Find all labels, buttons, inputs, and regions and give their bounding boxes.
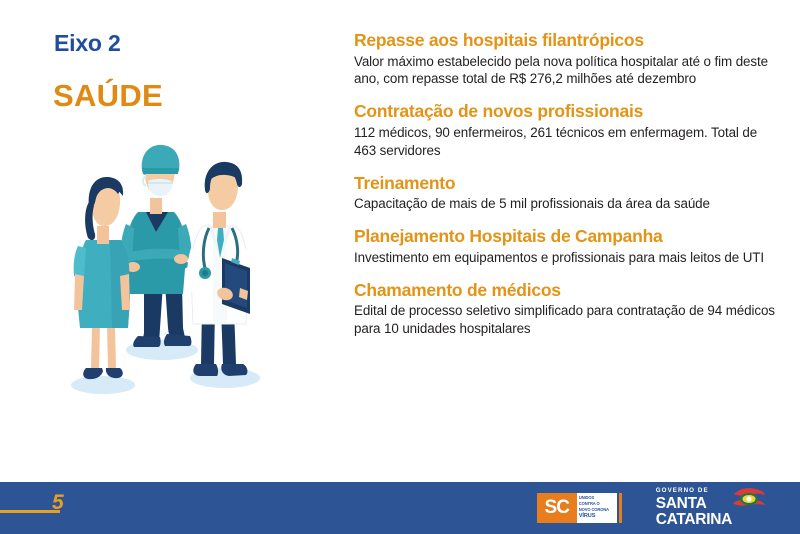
sc-logo-accent-bar xyxy=(619,493,622,523)
government-logo-eyebrow: GOVERNO DE xyxy=(656,488,732,494)
footer-bar: 5 SC UNIDOS CONTRA O NOVO CORONA VÍRUS G… xyxy=(0,482,800,534)
content-block: Repasse aos hospitais filantrópicos Valo… xyxy=(354,30,778,88)
page-number: 5 xyxy=(52,491,64,515)
block-body: 112 médicos, 90 enfermeiros, 261 técnico… xyxy=(354,124,778,160)
eixo-label: Eixo 2 xyxy=(54,30,121,57)
government-logo-line1: SANTA xyxy=(656,496,732,512)
figure-doctor xyxy=(187,162,252,376)
santa-catarina-flag-icon xyxy=(732,486,766,512)
block-heading: Chamamento de médicos xyxy=(354,280,778,301)
block-body: Edital de processo seletivo simplificado… xyxy=(354,302,778,338)
content-block: Treinamento Capacitação de mais de 5 mil… xyxy=(354,173,778,213)
figure-nurse xyxy=(74,177,130,379)
slide-canvas: Eixo 2 SAÚDE xyxy=(0,0,800,534)
block-body: Capacitação de mais de 5 mil profissiona… xyxy=(354,195,778,213)
shadow-nurse xyxy=(71,376,135,394)
government-logo-line2: CATARINA xyxy=(656,512,732,528)
block-heading: Repasse aos hospitais filantrópicos xyxy=(354,30,778,51)
sc-campaign-logo: SC UNIDOS CONTRA O NOVO CORONA VÍRUS xyxy=(537,493,622,523)
content-block: Planejamento Hospitais de Campanha Inves… xyxy=(354,226,778,266)
sc-logo-line4: VÍRUS xyxy=(579,513,615,521)
government-logo: GOVERNO DE SANTA CATARINA xyxy=(656,488,766,527)
content-column: Repasse aos hospitais filantrópicos Valo… xyxy=(354,30,778,338)
sc-logo-words: UNIDOS CONTRA O NOVO CORONA VÍRUS xyxy=(577,493,617,523)
healthcare-workers-illustration xyxy=(62,128,282,403)
block-heading: Contratação de novos profissionais xyxy=(354,101,778,122)
page-title: SAÚDE xyxy=(53,78,163,114)
block-heading: Treinamento xyxy=(354,173,778,194)
government-logo-name: SANTA CATARINA xyxy=(656,496,732,528)
content-block: Chamamento de médicos Edital de processo… xyxy=(354,280,778,338)
block-body: Valor máximo estabelecido pela nova polí… xyxy=(354,53,778,89)
figure-surgeon xyxy=(121,145,192,347)
content-block: Contratação de novos profissionais 112 m… xyxy=(354,101,778,159)
sc-logo-mark: SC xyxy=(537,493,577,523)
page-number-rule xyxy=(0,510,60,513)
left-column: Eixo 2 SAÚDE xyxy=(0,0,340,482)
block-body: Investimento em equipamentos e profissio… xyxy=(354,249,778,267)
block-heading: Planejamento Hospitais de Campanha xyxy=(354,226,778,247)
footer-logos: SC UNIDOS CONTRA O NOVO CORONA VÍRUS GOV… xyxy=(537,482,766,534)
